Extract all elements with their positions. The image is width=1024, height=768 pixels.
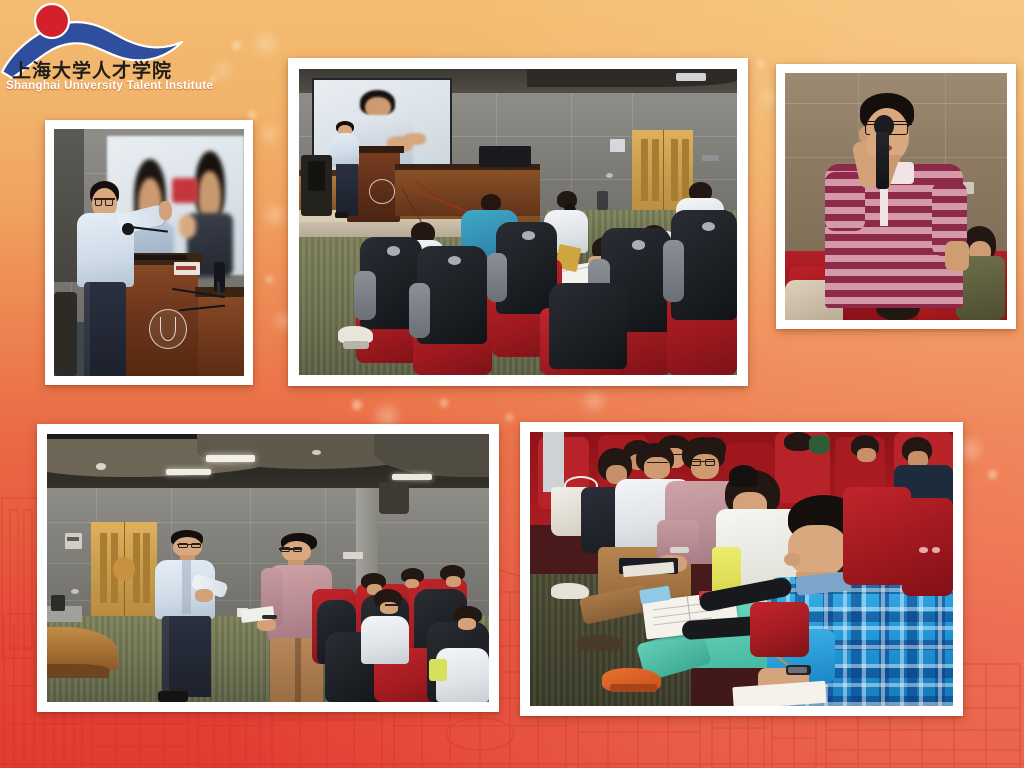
photo-1-image bbox=[54, 129, 244, 376]
bokeh-dot bbox=[248, 111, 256, 119]
photo-4-image bbox=[47, 434, 489, 702]
bokeh-dot bbox=[440, 399, 448, 407]
photo-5-image bbox=[530, 432, 953, 706]
institute-logo: 上海大学人才学院 Shanghai University Talent Inst… bbox=[0, 0, 210, 105]
logo-chinese-text: 上海大学人才学院 bbox=[12, 56, 172, 83]
bokeh-dot bbox=[960, 440, 980, 460]
photo-frame-audience-taking-notes[interactable] bbox=[520, 422, 963, 716]
photo-frame-lecture-hall-wide[interactable] bbox=[288, 58, 748, 386]
bokeh-dot bbox=[232, 41, 241, 50]
photo-3-image bbox=[785, 73, 1007, 320]
bokeh-dot bbox=[352, 400, 362, 410]
bokeh-dot bbox=[216, 63, 230, 77]
photo-frame-two-men-conversation[interactable] bbox=[37, 424, 499, 712]
bokeh-dot bbox=[266, 206, 284, 224]
photo-2-image bbox=[299, 69, 737, 375]
bokeh-dot bbox=[988, 470, 997, 479]
bokeh-dot bbox=[762, 90, 777, 105]
photo-frame-student-with-microphone[interactable] bbox=[776, 64, 1016, 329]
bokeh-dot bbox=[266, 276, 273, 283]
bokeh-dot bbox=[506, 414, 513, 421]
photo-frame-speaker-at-podium[interactable] bbox=[45, 120, 253, 385]
bokeh-dot bbox=[262, 126, 278, 142]
logo-english-text: Shanghai University Talent Institute bbox=[6, 80, 213, 92]
bokeh-dot bbox=[757, 60, 764, 67]
bokeh-dot bbox=[256, 34, 276, 54]
bokeh-dot bbox=[585, 392, 603, 410]
